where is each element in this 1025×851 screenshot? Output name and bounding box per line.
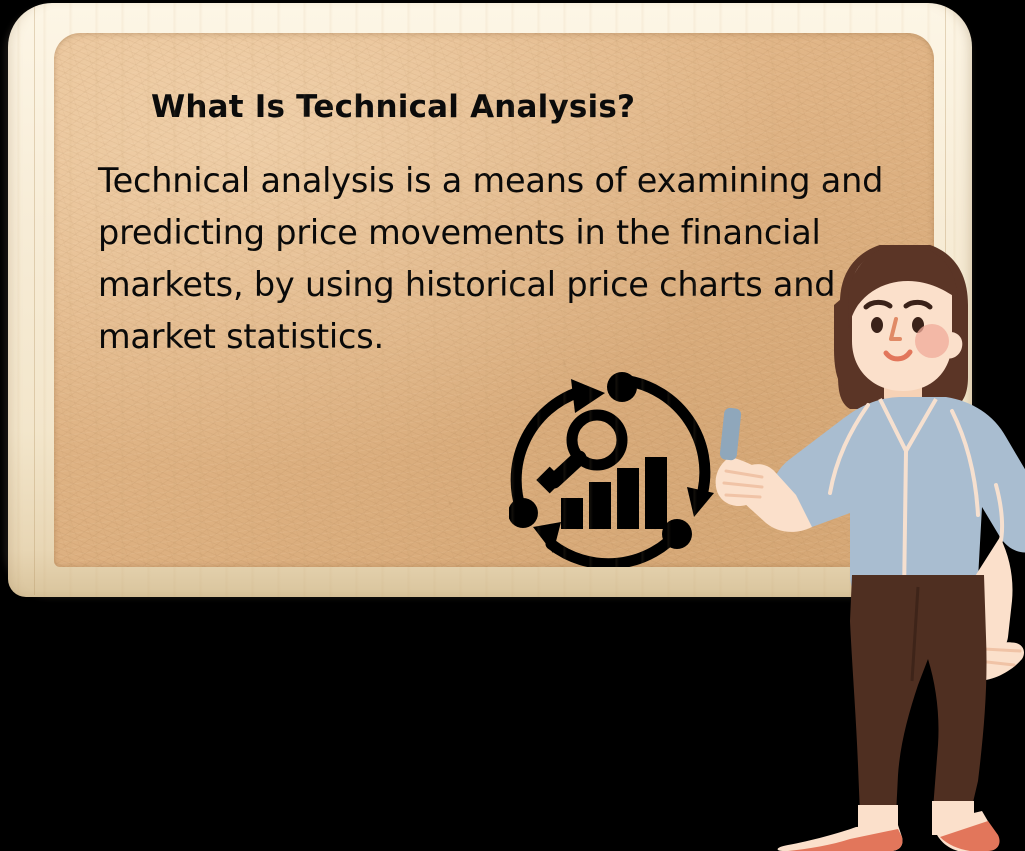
finger-crease-3	[726, 495, 760, 497]
bar-2	[589, 482, 611, 529]
blush-cheek	[915, 324, 949, 358]
bar-3	[617, 468, 639, 529]
bar-1	[561, 498, 583, 529]
node-dot-top	[607, 372, 637, 402]
node-dot-left	[509, 498, 538, 528]
body-line: Technical analysis is a means of examini…	[98, 155, 908, 207]
technical-analysis-icon	[509, 367, 724, 567]
scene: What Is Technical Analysis? Technical an…	[0, 0, 1025, 851]
refresh-arc-bottom	[551, 530, 680, 564]
eye-left	[871, 317, 883, 333]
woman-teacher-illustration	[700, 245, 1025, 851]
chalk	[719, 407, 741, 460]
arrow-head-top-left	[571, 379, 605, 413]
hair-side-left	[834, 293, 848, 391]
page-title: What Is Technical Analysis?	[151, 89, 635, 125]
magnifier-icon	[536, 415, 622, 493]
pants	[850, 575, 987, 833]
refresh-arc-left	[516, 392, 579, 515]
right-finger-crease-1	[984, 649, 1020, 651]
bar-4	[645, 457, 667, 529]
